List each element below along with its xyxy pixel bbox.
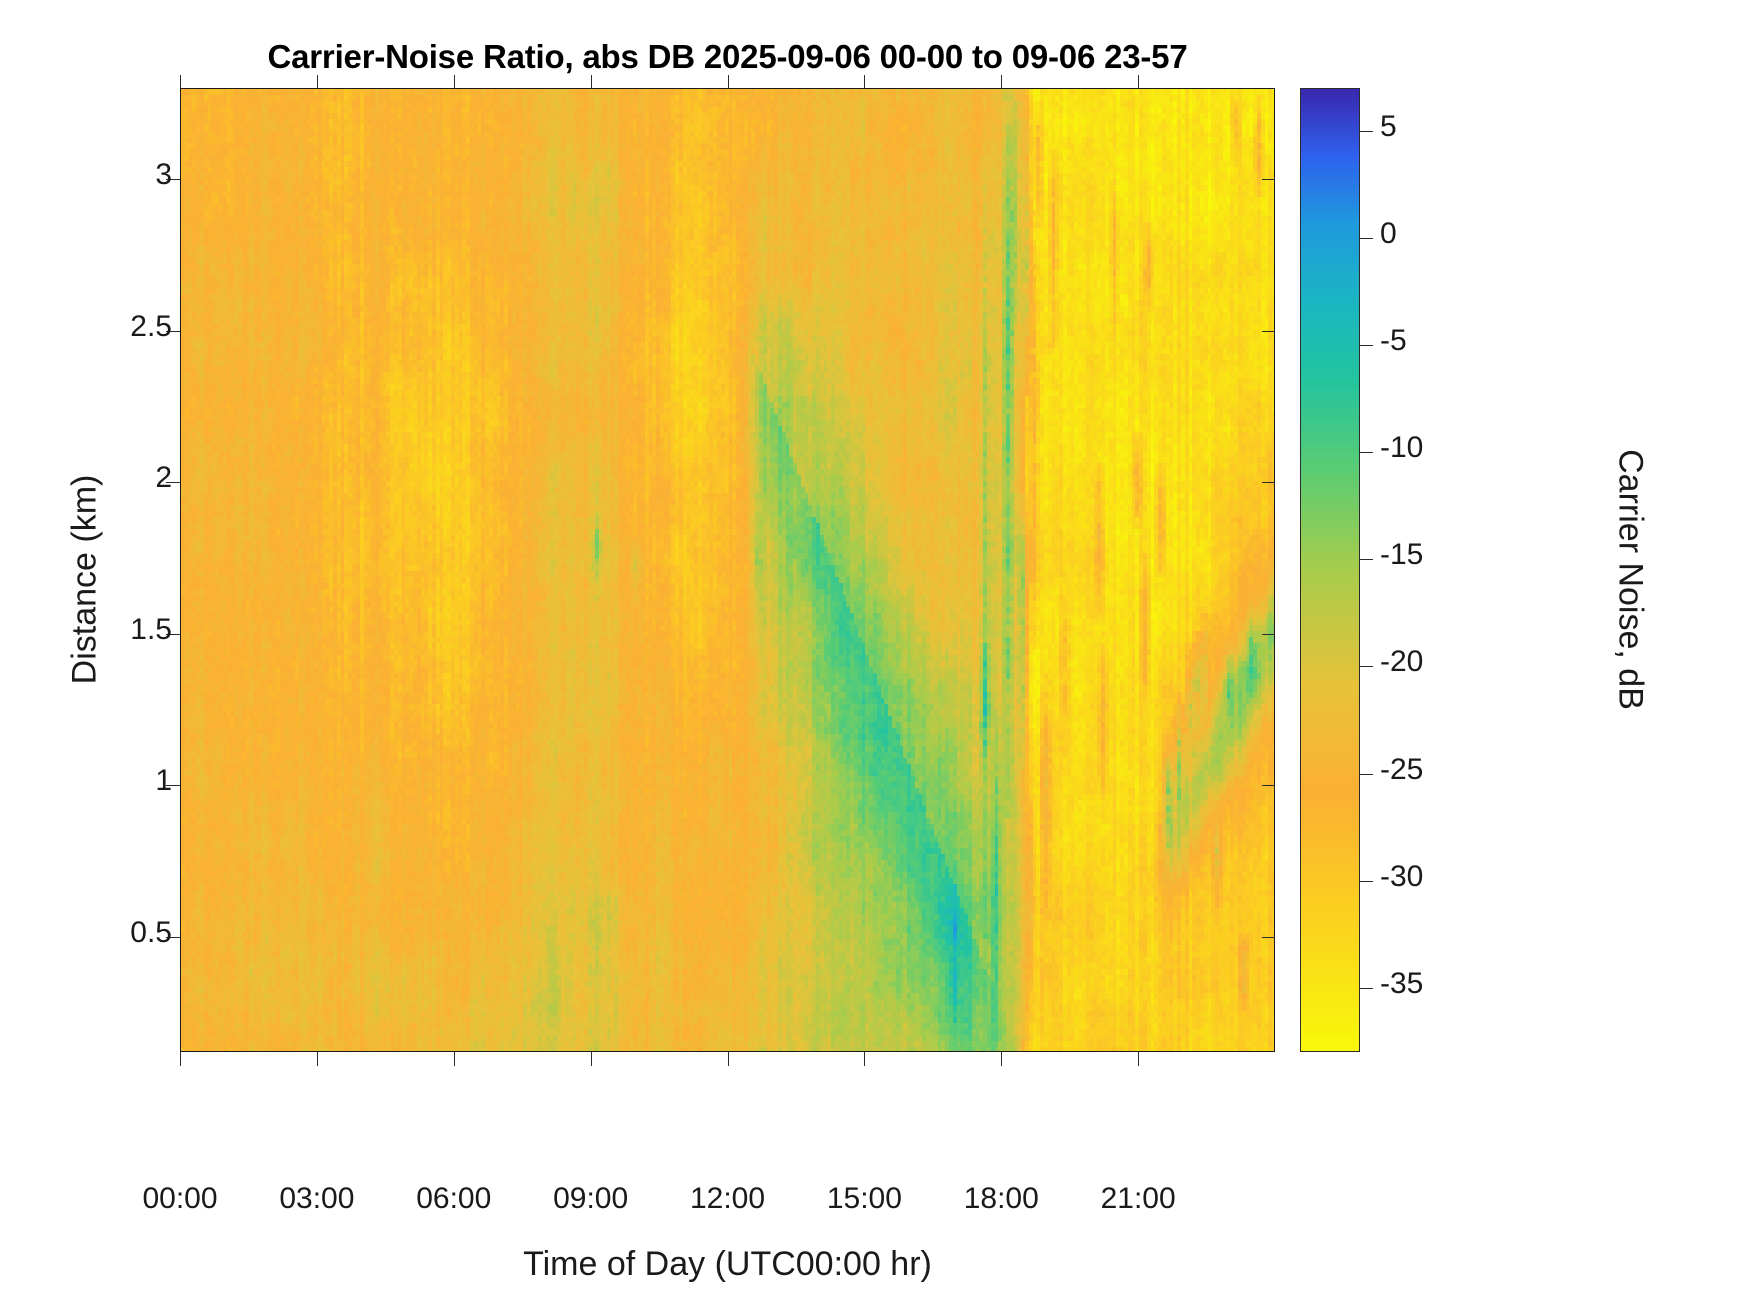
colorbar-tick-label: 5 [1380, 110, 1397, 144]
y-axis-tick-label: 2.5 [130, 310, 172, 344]
colorbar-tick [1360, 345, 1373, 346]
colorbar-tick [1360, 666, 1373, 667]
x-axis-tick [1138, 1052, 1139, 1066]
colorbar-tick-label: -15 [1380, 538, 1423, 572]
x-axis-tick-top [180, 75, 181, 88]
x-axis-tick-top [591, 75, 592, 88]
heatmap-canvas [181, 89, 1275, 1052]
x-axis-tick-top [1001, 75, 1002, 88]
colorbar-tick [1360, 238, 1373, 239]
colorbar-gradient [1301, 89, 1359, 1051]
x-axis-tick [864, 1052, 865, 1066]
y-axis-tick-right [1262, 179, 1275, 180]
x-axis-tick-top [1138, 75, 1139, 88]
x-axis-tick-top [864, 75, 865, 88]
x-axis-tick [317, 1052, 318, 1066]
colorbar[interactable] [1300, 88, 1360, 1052]
colorbar-tick [1360, 774, 1373, 775]
y-axis-tick-label: 0.5 [130, 916, 172, 950]
x-axis-tick-top [454, 75, 455, 88]
x-axis-tick [591, 1052, 592, 1066]
colorbar-tick [1360, 452, 1373, 453]
x-axis-tick [1001, 1052, 1002, 1066]
y-axis-tick-right [1262, 482, 1275, 483]
x-axis-tick [180, 1052, 181, 1066]
page-title: Carrier-Noise Ratio, abs DB 2025-09-06 0… [180, 38, 1275, 76]
x-axis-tick-label: 06:00 [416, 1182, 491, 1216]
colorbar-tick [1360, 988, 1373, 989]
y-axis-tick-right [1262, 331, 1275, 332]
y-axis-tick-label: 1 [155, 764, 172, 798]
colorbar-tick-label: 0 [1380, 217, 1397, 251]
colorbar-tick [1360, 559, 1373, 560]
colorbar-tick-label: -25 [1380, 753, 1423, 787]
x-axis-tick-label: 15:00 [827, 1182, 902, 1216]
heatmap-plot-area[interactable] [180, 88, 1275, 1052]
y-axis-tick-right [1262, 937, 1275, 938]
y-axis-tick-label: 3 [155, 158, 172, 192]
x-axis-tick-top [317, 75, 318, 88]
y-axis-tick-label: 2 [155, 461, 172, 495]
x-axis-tick [454, 1052, 455, 1066]
colorbar-tick [1360, 881, 1373, 882]
x-axis-tick-top [728, 75, 729, 88]
y-axis-tick-right [1262, 634, 1275, 635]
x-axis-tick-label: 09:00 [553, 1182, 628, 1216]
colorbar-tick-label: -5 [1380, 324, 1407, 358]
x-axis-tick [728, 1052, 729, 1066]
colorbar-tick-label: -30 [1380, 860, 1423, 894]
x-axis-label: Time of Day (UTC00:00 hr) [180, 1245, 1275, 1284]
y-axis-label: Distance (km) [66, 300, 105, 860]
colorbar-tick-label: -20 [1380, 645, 1423, 679]
x-axis-tick-label: 12:00 [690, 1182, 765, 1216]
y-axis-tick-label: 1.5 [130, 613, 172, 647]
colorbar-tick-label: -10 [1380, 431, 1423, 465]
colorbar-tick [1360, 131, 1373, 132]
colorbar-tick-label: -35 [1380, 967, 1423, 1001]
x-axis-tick-label: 18:00 [964, 1182, 1039, 1216]
x-axis-tick-label: 03:00 [279, 1182, 354, 1216]
x-axis-tick-label: 00:00 [142, 1182, 217, 1216]
figure-root: Carrier-Noise Ratio, abs DB 2025-09-06 0… [0, 0, 1750, 1313]
colorbar-label: Carrier Noise, dB [1611, 300, 1650, 860]
y-axis-tick-right [1262, 785, 1275, 786]
x-axis-tick-label: 21:00 [1101, 1182, 1176, 1216]
